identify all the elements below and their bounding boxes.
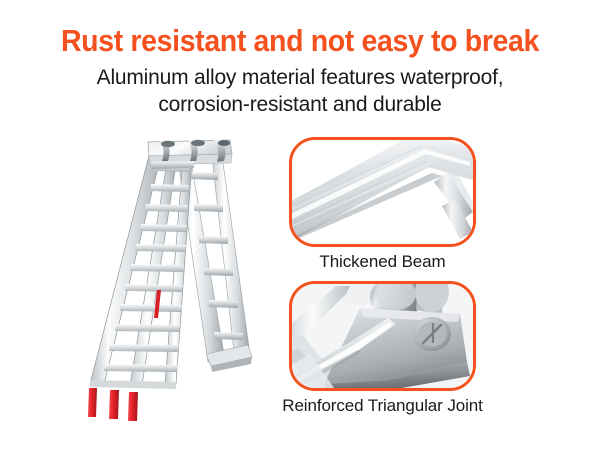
joint-pivot-boss (413, 317, 451, 351)
subtitle-line-1: Aluminum alloy material features waterpr… (30, 64, 570, 91)
inset-reinforced-triangular-joint: Reinforced Triangular Joint (289, 281, 476, 421)
ramp-rubber-feet (88, 388, 138, 421)
inset-caption-thickened-beam: Thickened Beam (255, 251, 510, 273)
inset-caption-triangular-joint: Reinforced Triangular Joint (255, 395, 510, 417)
inset-thickened-beam: Thickened Beam (289, 137, 476, 277)
page-title: Rust resistant and not easy to break (24, 24, 576, 58)
product-image-folded-ramp (48, 132, 278, 427)
subtitle-line-2: corrosion-resistant and durable (30, 91, 570, 118)
subtitle: Aluminum alloy material features waterpr… (30, 64, 570, 118)
ramp-left-leg (90, 144, 193, 389)
product-feature-card: Rust resistant and not easy to break Alu… (0, 0, 600, 450)
inset-frame-triangular-joint (289, 281, 476, 391)
inset-frame-thickened-beam (289, 137, 476, 247)
